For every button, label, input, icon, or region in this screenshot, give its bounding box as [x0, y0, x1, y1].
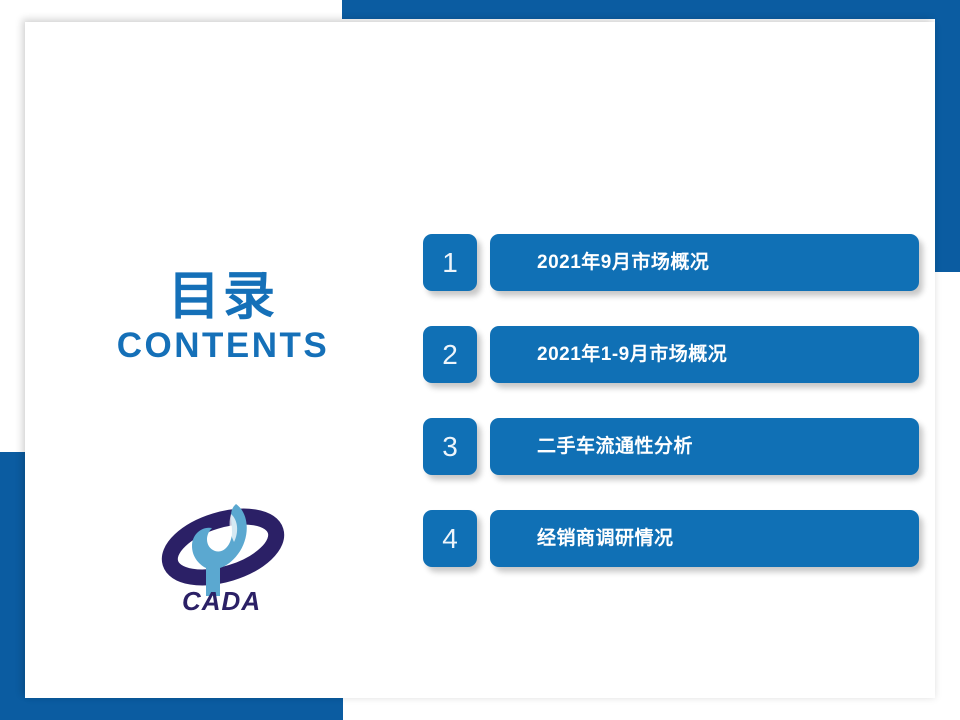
slide-contents: 目录 CONTENTS CADA 1 2021年9月市场概况 2: [0, 0, 960, 720]
contents-item-1[interactable]: 1 2021年9月市场概况: [423, 234, 919, 291]
contents-item-number-1[interactable]: 1: [423, 234, 477, 291]
contents-item-3[interactable]: 3 二手车流通性分析: [423, 418, 919, 475]
contents-item-number-4[interactable]: 4: [423, 510, 477, 567]
cada-logo: CADA: [158, 492, 288, 617]
contents-item-2[interactable]: 2 2021年1-9月市场概况: [423, 326, 919, 383]
contents-item-number-2[interactable]: 2: [423, 326, 477, 383]
cada-wordmark: CADA: [182, 586, 261, 616]
contents-item-label-4: 经销商调研情况: [490, 529, 674, 548]
decor-bar-right: [935, 0, 960, 272]
contents-list: 1 2021年9月市场概况 2 2021年1-9月市场概况 3 二手车流通性分析…: [423, 234, 919, 567]
contents-item-label-1: 2021年9月市场概况: [490, 253, 709, 272]
contents-item-label-2: 2021年1-9月市场概况: [490, 345, 727, 364]
contents-item-number-3[interactable]: 3: [423, 418, 477, 475]
decor-bar-top: [342, 0, 960, 19]
slide-card: 目录 CONTENTS CADA 1 2021年9月市场概况 2: [25, 22, 935, 698]
contents-item-bar-1[interactable]: 2021年9月市场概况: [490, 234, 919, 291]
page-title: 目录 CONTENTS: [73, 270, 373, 366]
contents-item-4[interactable]: 4 经销商调研情况: [423, 510, 919, 567]
page-title-cn: 目录: [73, 270, 373, 325]
contents-item-bar-3[interactable]: 二手车流通性分析: [490, 418, 919, 475]
contents-item-label-3: 二手车流通性分析: [490, 437, 693, 456]
contents-item-bar-2[interactable]: 2021年1-9月市场概况: [490, 326, 919, 383]
contents-item-bar-4[interactable]: 经销商调研情况: [490, 510, 919, 567]
cada-logo-mark: CADA: [158, 492, 288, 617]
page-title-en: CONTENTS: [73, 327, 373, 366]
decor-bar-left: [0, 452, 26, 720]
